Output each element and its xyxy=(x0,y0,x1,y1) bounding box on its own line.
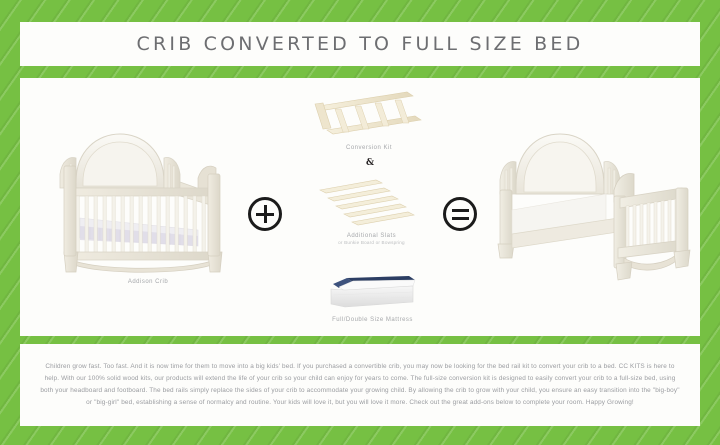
conversion-kit-illustration xyxy=(313,90,425,142)
mattress-illustration xyxy=(325,274,421,314)
infographic-page: CRIB CONVERTED TO FULL SIZE BED xyxy=(0,0,720,445)
description-panel: Children grow fast. Too fast. And it is … xyxy=(20,344,700,426)
product-diagram-panel: Addison Crib xyxy=(20,78,700,336)
page-title: CRIB CONVERTED TO FULL SIZE BED xyxy=(137,33,584,55)
slats-caption-sub: or Bunkie Board or Bowspring xyxy=(314,240,429,246)
slats-caption: Additional Slats or Bunkie Board or Bows… xyxy=(314,232,429,246)
title-panel: CRIB CONVERTED TO FULL SIZE BED xyxy=(20,22,700,66)
slats-caption-main: Additional Slats xyxy=(347,233,396,239)
left-product-caption: Addison Crib xyxy=(98,278,198,286)
diagram-stage: Addison Crib xyxy=(20,78,700,336)
mattress-caption: Full/Double Size Mattress xyxy=(310,316,435,324)
full-size-bed-illustration xyxy=(486,128,696,288)
crib-illustration xyxy=(38,126,233,276)
equals-circle-icon xyxy=(443,197,477,231)
description-paragraph: Children grow fast. Too fast. And it is … xyxy=(40,361,680,408)
conversion-kit-caption: Conversion Kit xyxy=(319,144,419,152)
plus-circle-icon xyxy=(248,197,282,231)
ampersand-symbol: & xyxy=(366,158,374,168)
slats-illustration xyxy=(316,178,426,230)
